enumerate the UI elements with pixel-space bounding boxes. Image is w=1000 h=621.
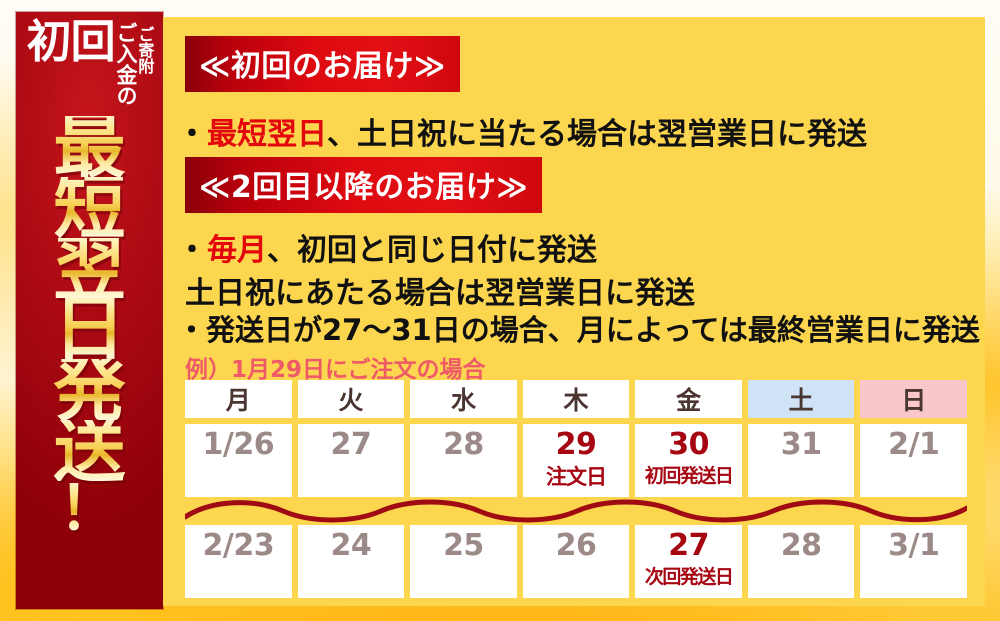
calendar-weekday-月: 月 — [185, 380, 292, 418]
calendar-day-cell: 27次回発送日 — [635, 525, 742, 598]
calendar-day-label: 注文日 — [546, 461, 606, 491]
calendar-day-cell: 29注文日 — [523, 424, 630, 497]
recurring-delivery-badge: ≪2回目以降のお届け≫ — [185, 157, 542, 213]
recurring-highlight: 毎月 — [207, 233, 267, 268]
calendar-day-number: 30 — [668, 427, 709, 462]
calendar: 月火水木金土日 1/26272829注文日30初回発送日312/1 2/2324… — [185, 380, 967, 598]
example-note: 例）1月29日にご注文の場合 — [185, 350, 486, 384]
calendar-day-number: 24 — [330, 528, 371, 563]
banner-top-text: 初回 ご入金の ご寄附 — [16, 18, 163, 116]
left-red-banner: 初回 ご入金の ご寄附 最 短 翌 日 発 送 ！ — [16, 12, 163, 609]
banner-payment-label: ご入金の — [115, 22, 136, 106]
first-delivery-badge: ≪初回のお届け≫ — [185, 36, 460, 92]
calendar-day-number: 2/1 — [888, 427, 939, 462]
recurring-delivery-text-1: ・毎月、初回と同じ日付に発送 — [177, 225, 597, 269]
calendar-day-number: 31 — [781, 427, 822, 462]
banner-first-time-label: 初回 — [27, 20, 115, 64]
calendar-weekday-金: 金 — [635, 380, 742, 418]
calendar-day-cell: 28 — [410, 424, 517, 497]
calendar-weekday-水: 水 — [410, 380, 517, 418]
calendar-day-cell: 1/26 — [185, 424, 292, 497]
calendar-day-cell: 28 — [748, 525, 855, 598]
calendar-day-cell: 3/1 — [860, 525, 967, 598]
calendar-weekday-土: 土 — [748, 380, 855, 418]
banner-headline-exclamation: ！ — [58, 483, 120, 533]
calendar-day-number: 27 — [330, 427, 371, 462]
banner-donation-label: ご寄附 — [136, 26, 152, 74]
content-panel: ≪初回のお届け≫ ・最短翌日、土日祝に当たる場合は翌営業日に発送 ≪2回目以降の… — [163, 17, 985, 606]
calendar-day-cell: 27 — [298, 424, 405, 497]
recurring-delivery-text-3: ・発送日が27〜31日の場合、月によっては最終営業日に発送 — [177, 307, 980, 349]
calendar-day-number: 3/1 — [888, 528, 939, 563]
calendar-row-1: 1/26272829注文日30初回発送日312/1 — [185, 424, 967, 497]
calendar-day-cell: 30初回発送日 — [635, 424, 742, 497]
calendar-day-number: 1/26 — [202, 427, 274, 462]
bullet-dot: ・ — [177, 117, 207, 152]
calendar-day-number: 27 — [668, 528, 709, 563]
wave-divider — [185, 498, 967, 524]
calendar-day-cell: 31 — [748, 424, 855, 497]
calendar-day-number: 2/23 — [202, 528, 274, 563]
recurring-rest: 、初回と同じ日付に発送 — [267, 233, 597, 268]
calendar-day-number: 29 — [556, 427, 597, 462]
banner-headline: 最 短 翌 日 発 送 ！ — [16, 116, 163, 606]
calendar-day-number: 25 — [443, 528, 484, 563]
calendar-day-number: 28 — [443, 427, 484, 462]
calendar-weekday-火: 火 — [298, 380, 405, 418]
bullet-dot: ・ — [177, 233, 207, 268]
first-delivery-text: ・最短翌日、土日祝に当たる場合は翌営業日に発送 — [177, 109, 867, 153]
first-delivery-rest: 、土日祝に当たる場合は翌営業日に発送 — [327, 117, 867, 152]
first-delivery-highlight: 最短翌日 — [207, 117, 327, 152]
calendar-row-2: 2/2324252627次回発送日283/1 — [185, 525, 967, 598]
calendar-day-cell: 2/1 — [860, 424, 967, 497]
calendar-day-number: 28 — [781, 528, 822, 563]
calendar-header-row: 月火水木金土日 — [185, 380, 967, 418]
calendar-weekday-木: 木 — [523, 380, 630, 418]
calendar-day-cell: 25 — [410, 525, 517, 598]
calendar-day-cell: 2/23 — [185, 525, 292, 598]
recurring-delivery-text-2: 土日祝にあたる場合は翌営業日に発送 — [185, 268, 695, 312]
calendar-weekday-日: 日 — [860, 380, 967, 418]
calendar-day-cell: 26 — [523, 525, 630, 598]
calendar-day-label: 次回発送日 — [645, 562, 733, 589]
calendar-day-number: 26 — [556, 528, 597, 563]
calendar-day-cell: 24 — [298, 525, 405, 598]
banner-image: 初回 ご入金の ご寄附 最 短 翌 日 発 送 ！ ≪初回のお届け≫ ・最短翌日… — [0, 0, 1000, 621]
calendar-day-label: 初回発送日 — [645, 461, 733, 488]
